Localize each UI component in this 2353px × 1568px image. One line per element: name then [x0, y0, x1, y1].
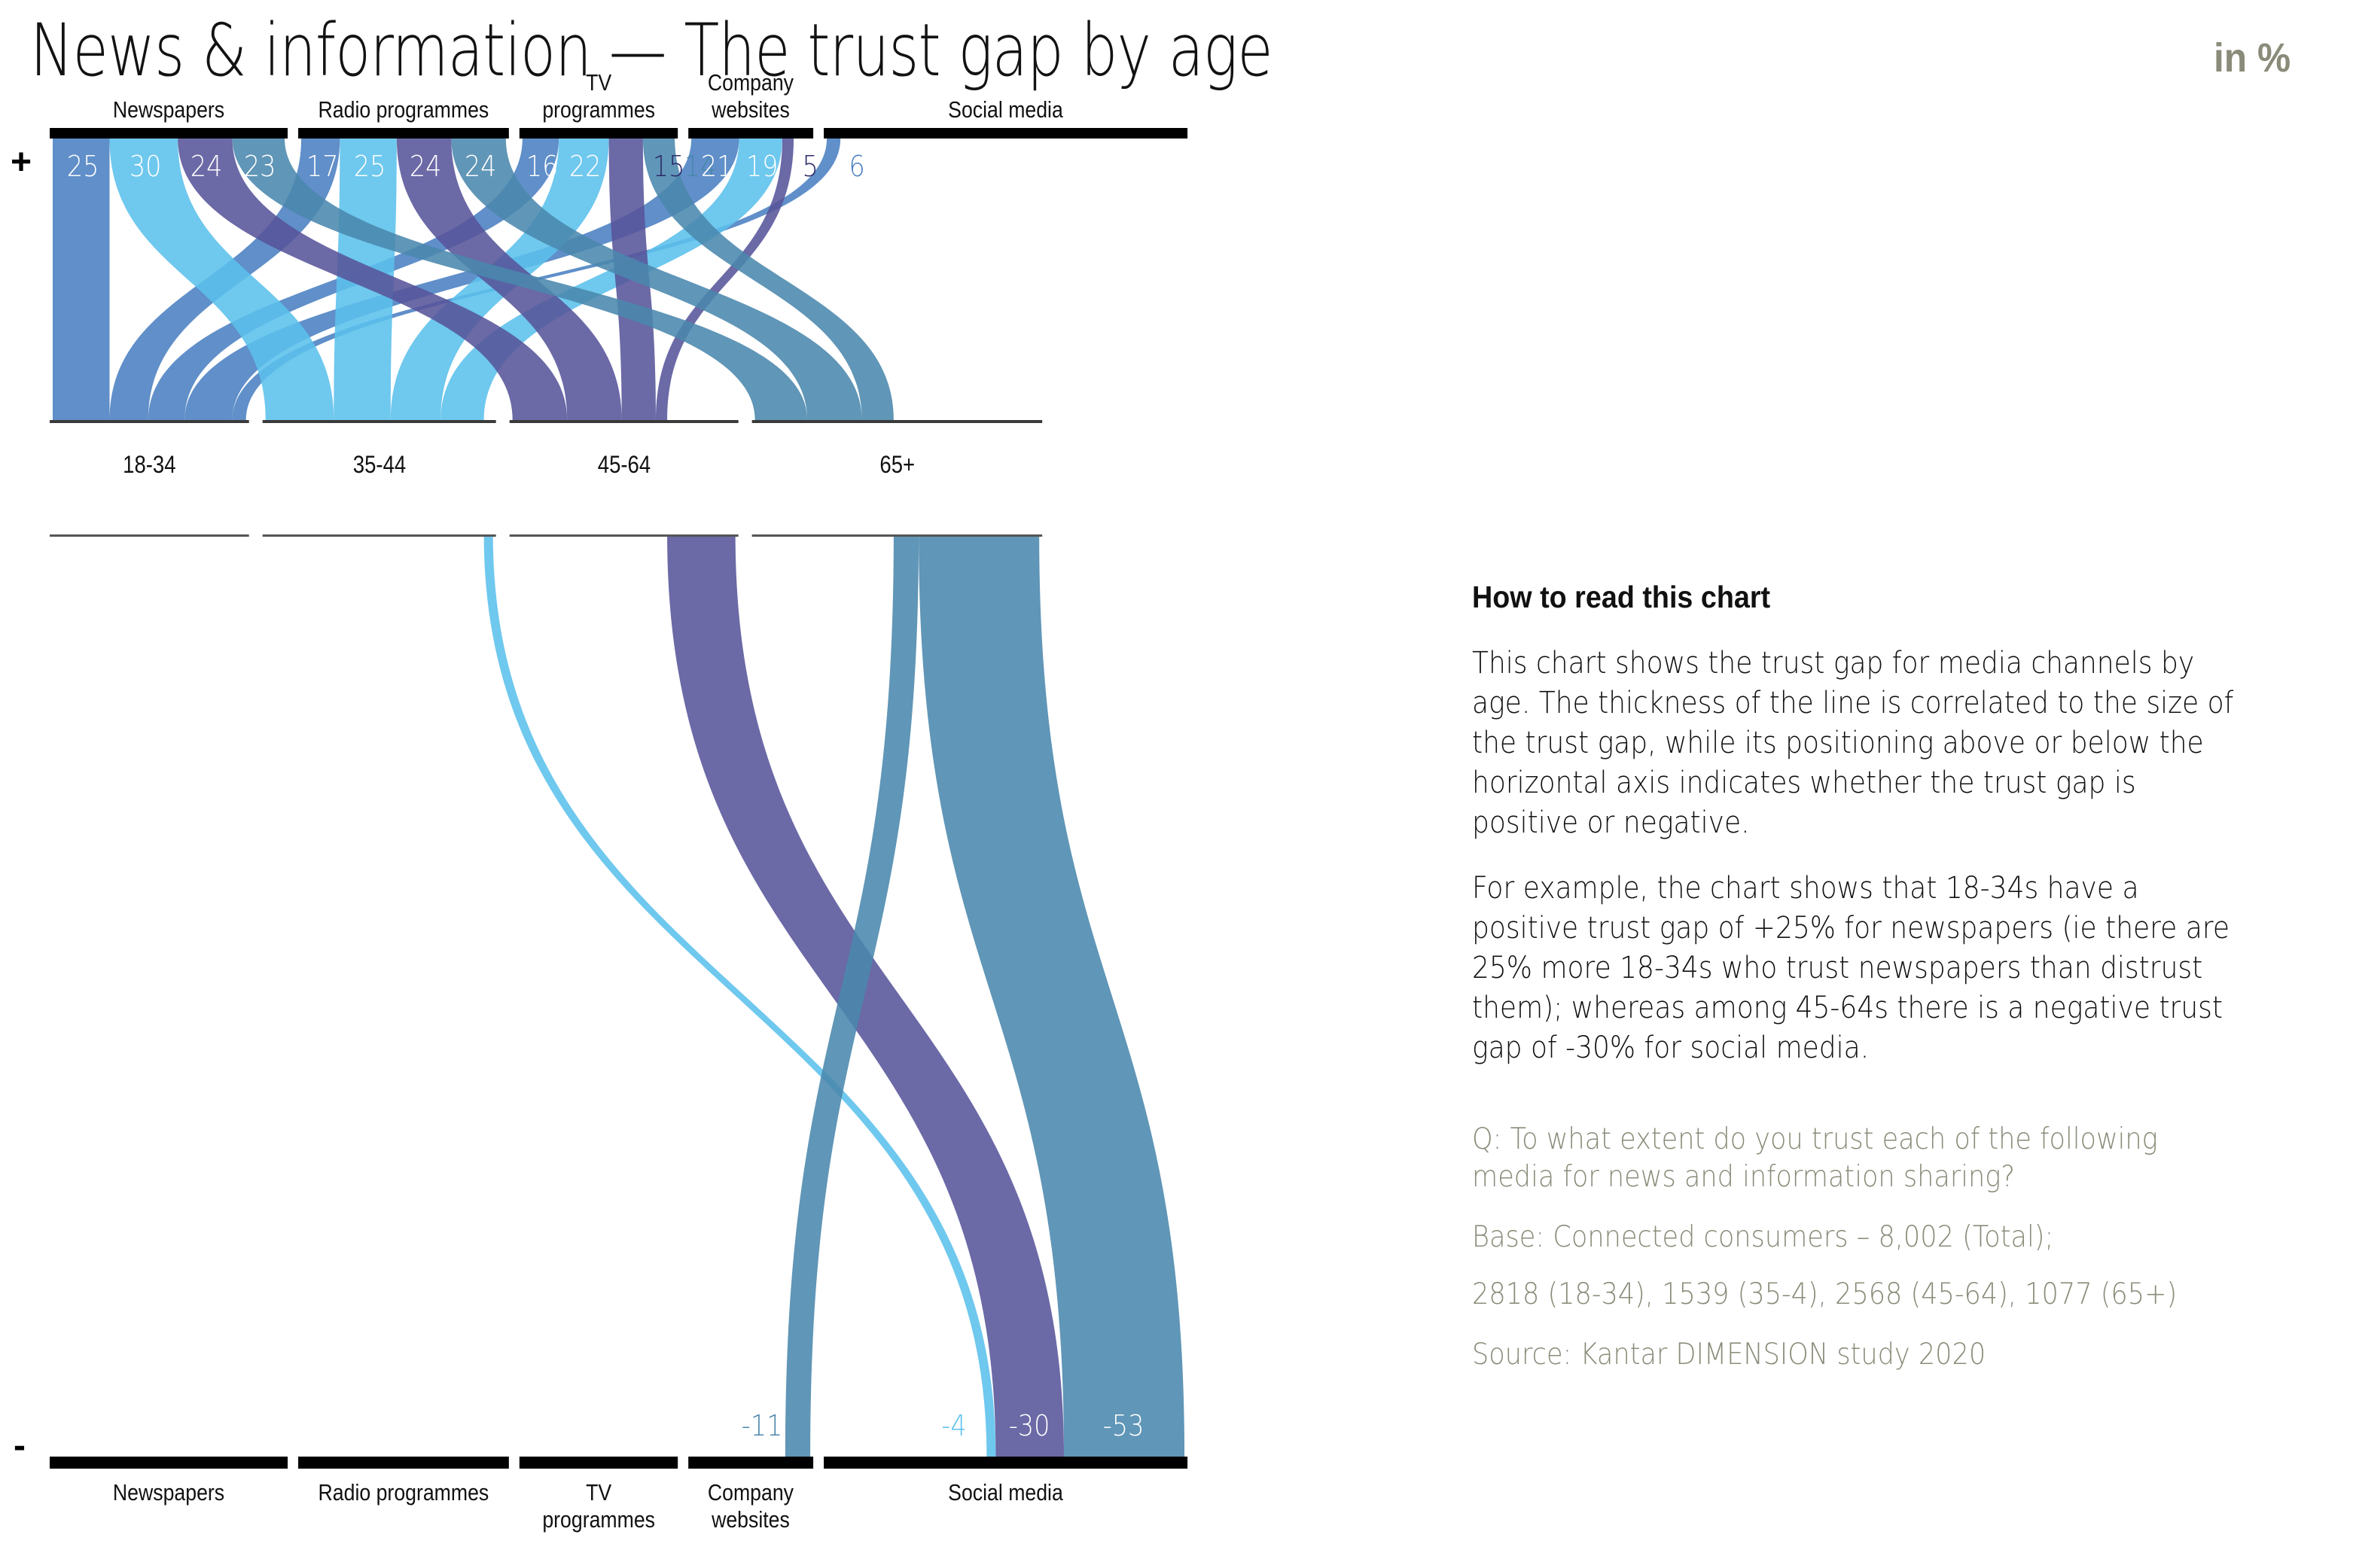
unit-label: in %: [2214, 35, 2291, 81]
age-group-label: 65+: [773, 452, 1023, 477]
bottom-column-header: Companywebsites: [697, 1479, 805, 1533]
panel-base-line-1: Base: Connected consumers – 8,002 (Total…: [1472, 1219, 2245, 1256]
flow-value-positive: 6: [849, 152, 865, 181]
negative-axis-sign: -: [14, 1428, 26, 1464]
flow-value-positive: 25: [67, 152, 99, 181]
age-rule-top: [510, 420, 739, 423]
top-axis-bar: [688, 128, 813, 139]
bottom-axis-bar: [824, 1457, 1187, 1469]
bottom-axis-bar: [520, 1457, 678, 1469]
flow-value-positive: 24: [464, 152, 496, 181]
top-axis-bar: [50, 128, 288, 139]
flow-value-positive: 15: [653, 152, 685, 181]
flow-value-negative: -53: [1103, 1411, 1144, 1440]
bottom-column-header: Radio programmes: [313, 1479, 495, 1506]
flow-value-positive: 24: [410, 152, 442, 181]
bottom-column-header: Social media: [849, 1479, 1162, 1506]
flow-value-negative: -30: [1008, 1411, 1050, 1440]
top-axis-bar: [520, 128, 678, 139]
flow-value-positive: 23: [244, 152, 276, 181]
panel-paragraph-1: This chart shows the trust gap for media…: [1472, 644, 2245, 843]
bottom-column-header: TVprogrammes: [531, 1479, 667, 1533]
flow-value-positive: 17: [306, 152, 339, 181]
positive-axis-sign: +: [11, 145, 32, 181]
flow-value-positive: 16: [526, 152, 559, 181]
panel-heading: How to read this chart: [1472, 580, 2262, 615]
flow-value-positive: 30: [130, 152, 162, 181]
age-rule-group: [50, 420, 1042, 537]
sankey-chart: NewspapersRadio programmesTVprogrammesCo…: [0, 98, 1355, 1568]
age-group-label: 18-34: [64, 452, 236, 477]
age-rule-top: [50, 420, 249, 423]
panel-source: Source: Kantar DIMENSION study 2020: [1472, 1336, 2245, 1374]
flow-value-negative: -11: [742, 1411, 783, 1440]
age-rule-top: [752, 420, 1042, 423]
flow-value-positive: 22: [569, 152, 602, 181]
panel-base-line-2: 2818 (18-34), 1539 (35-4), 2568 (45-64),…: [1472, 1276, 2245, 1314]
trust-gap-sankey-svg: [0, 98, 1355, 1568]
bottom-axis-bar: [298, 1457, 509, 1469]
flow-value-positive: 24: [190, 152, 223, 181]
bottom-column-header: Newspapers: [66, 1479, 271, 1506]
flow-value-positive: 19: [746, 152, 779, 181]
flow-value-positive: 25: [354, 152, 386, 181]
age-group-label: 35-44: [279, 452, 480, 477]
panel-question: Q: To what extent do you trust each of t…: [1472, 1121, 2245, 1196]
title-row: News & information — The trust gap by ag…: [30, 6, 2319, 96]
top-axis-bar: [298, 128, 509, 139]
how-to-read-panel: How to read this chart This chart shows …: [1472, 580, 2330, 1396]
age-rule-top: [263, 420, 496, 423]
top-axis-bar: [824, 128, 1187, 139]
top-column-header: TVprogrammes: [531, 69, 667, 123]
top-column-header: Newspapers: [66, 96, 271, 123]
age-rule-bottom: [263, 534, 496, 537]
flow-value-negative: -4: [942, 1411, 967, 1440]
ribbon-group: [53, 139, 1184, 1457]
age-rule-bottom: [50, 534, 249, 537]
age-rule-bottom: [752, 534, 1042, 537]
top-column-header: Companywebsites: [697, 69, 805, 123]
panel-paragraph-2: For example, the chart shows that 18-34s…: [1472, 869, 2245, 1068]
flow-value-positive: 5: [803, 152, 818, 181]
flow-value-positive: 21: [701, 152, 733, 181]
bottom-axis-bar: [688, 1457, 813, 1469]
top-column-header: Social media: [849, 96, 1162, 123]
age-group-label: 45-64: [526, 452, 722, 477]
top-column-header: Radio programmes: [313, 96, 495, 123]
bottom-axis-bar: [50, 1457, 288, 1469]
age-rule-bottom: [510, 534, 739, 537]
